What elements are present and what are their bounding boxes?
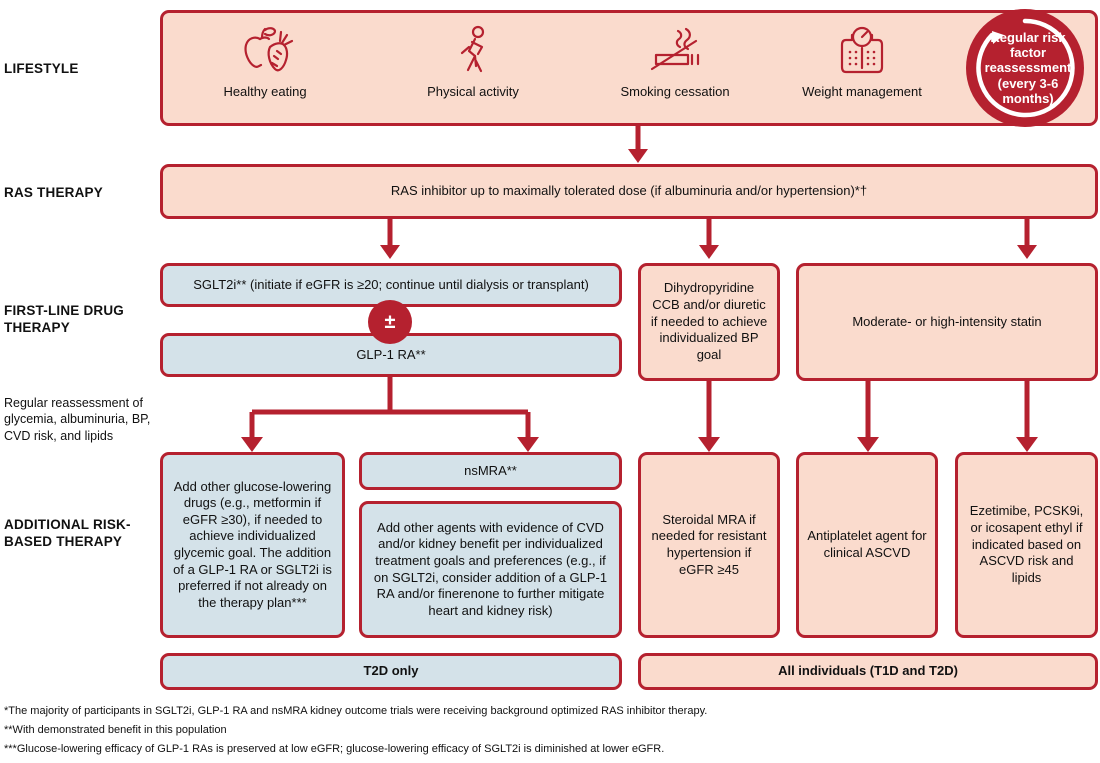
apple-carrot-icon xyxy=(190,22,340,80)
row-label-lifestyle: LIFESTYLE xyxy=(4,60,154,77)
steroidal-mra-text: Steroidal MRA if needed for resistant hy… xyxy=(649,512,769,579)
lifestyle-item-healthy-eating: Healthy eating xyxy=(190,22,340,99)
glucose-lowering-text: Add other glucose-lowering drugs (e.g., … xyxy=(171,479,334,612)
t2d-only-text: T2D only xyxy=(171,663,611,680)
flowchart-canvas: LIFESTYLE Healthy eating xyxy=(0,0,1100,763)
glp1-ra-text: GLP-1 RA** xyxy=(171,347,611,364)
plus-minus-symbol: ± xyxy=(385,311,396,334)
statin-text: Moderate- or high-intensity statin xyxy=(807,314,1087,331)
lifestyle-label-healthy-eating: Healthy eating xyxy=(190,84,340,99)
footnotes: *The majority of participants in SGLT2i,… xyxy=(4,704,1094,758)
sglt2i-text: SGLT2i** (initiate if eGFR is ≥20; conti… xyxy=(171,277,611,294)
lifestyle-label-smoking-cessation: Smoking cessation xyxy=(600,84,750,99)
lifestyle-label-physical-activity: Physical activity xyxy=(398,84,548,99)
nsmra-text: nsMRA** xyxy=(370,463,611,480)
row-label-additional-therapy: ADDITIONAL RISK-BASED THERAPY xyxy=(4,516,154,551)
steroidal-mra-box: Steroidal MRA if needed for resistant hy… xyxy=(638,452,780,638)
all-individuals-bar: All individuals (T1D and T2D) xyxy=(638,653,1098,690)
lifestyle-item-physical-activity: Physical activity xyxy=(398,22,548,99)
row-label-ras-therapy: RAS THERAPY xyxy=(4,184,154,201)
reassessment-badge: Regular risk factor reassessment (every … xyxy=(966,9,1084,127)
lifestyle-item-weight-management: Weight management xyxy=(787,22,937,99)
reassessment-badge-text: Regular risk factor reassessment (every … xyxy=(966,30,1084,105)
footnote-3: ***Glucose-lowering efficacy of GLP-1 RA… xyxy=(4,742,1094,758)
glucose-lowering-box: Add other glucose-lowering drugs (e.g., … xyxy=(160,452,345,638)
lipid-agents-box: Ezetimibe, PCSK9i, or icosapent ethyl if… xyxy=(955,452,1098,638)
ras-inhibitor-text: RAS inhibitor up to maximally tolerated … xyxy=(171,183,1087,200)
reassessment-note: Regular reassessment of glycemia, albumi… xyxy=(4,395,156,444)
t2d-only-bar: T2D only xyxy=(160,653,622,690)
lifestyle-label-weight-management: Weight management xyxy=(787,84,937,99)
no-smoking-icon xyxy=(600,22,750,80)
ccb-diuretic-text: Dihydropyridine CCB and/or diuretic if n… xyxy=(649,280,769,363)
statin-box: Moderate- or high-intensity statin xyxy=(796,263,1098,381)
ccb-diuretic-box: Dihydropyridine CCB and/or diuretic if n… xyxy=(638,263,780,381)
weight-scale-icon xyxy=(787,22,937,80)
other-agents-box: Add other agents with evidence of CVD an… xyxy=(359,501,622,638)
ras-inhibitor-box: RAS inhibitor up to maximally tolerated … xyxy=(160,164,1098,219)
lifestyle-item-smoking-cessation: Smoking cessation xyxy=(600,22,750,99)
footnote-1: *The majority of participants in SGLT2i,… xyxy=(4,704,1094,720)
other-agents-text: Add other agents with evidence of CVD an… xyxy=(370,520,611,620)
plus-minus-connector: ± xyxy=(368,300,412,344)
antiplatelet-box: Antiplatelet agent for clinical ASCVD xyxy=(796,452,938,638)
all-individuals-text: All individuals (T1D and T2D) xyxy=(649,663,1087,680)
lipid-agents-text: Ezetimibe, PCSK9i, or icosapent ethyl if… xyxy=(966,503,1087,586)
nsmra-box: nsMRA** xyxy=(359,452,622,490)
footnote-2: **With demonstrated benefit in this popu… xyxy=(4,723,1094,739)
row-label-first-line-therapy: FIRST-LINE DRUG THERAPY xyxy=(4,302,154,337)
antiplatelet-text: Antiplatelet agent for clinical ASCVD xyxy=(807,528,927,561)
walking-person-icon xyxy=(398,22,548,80)
